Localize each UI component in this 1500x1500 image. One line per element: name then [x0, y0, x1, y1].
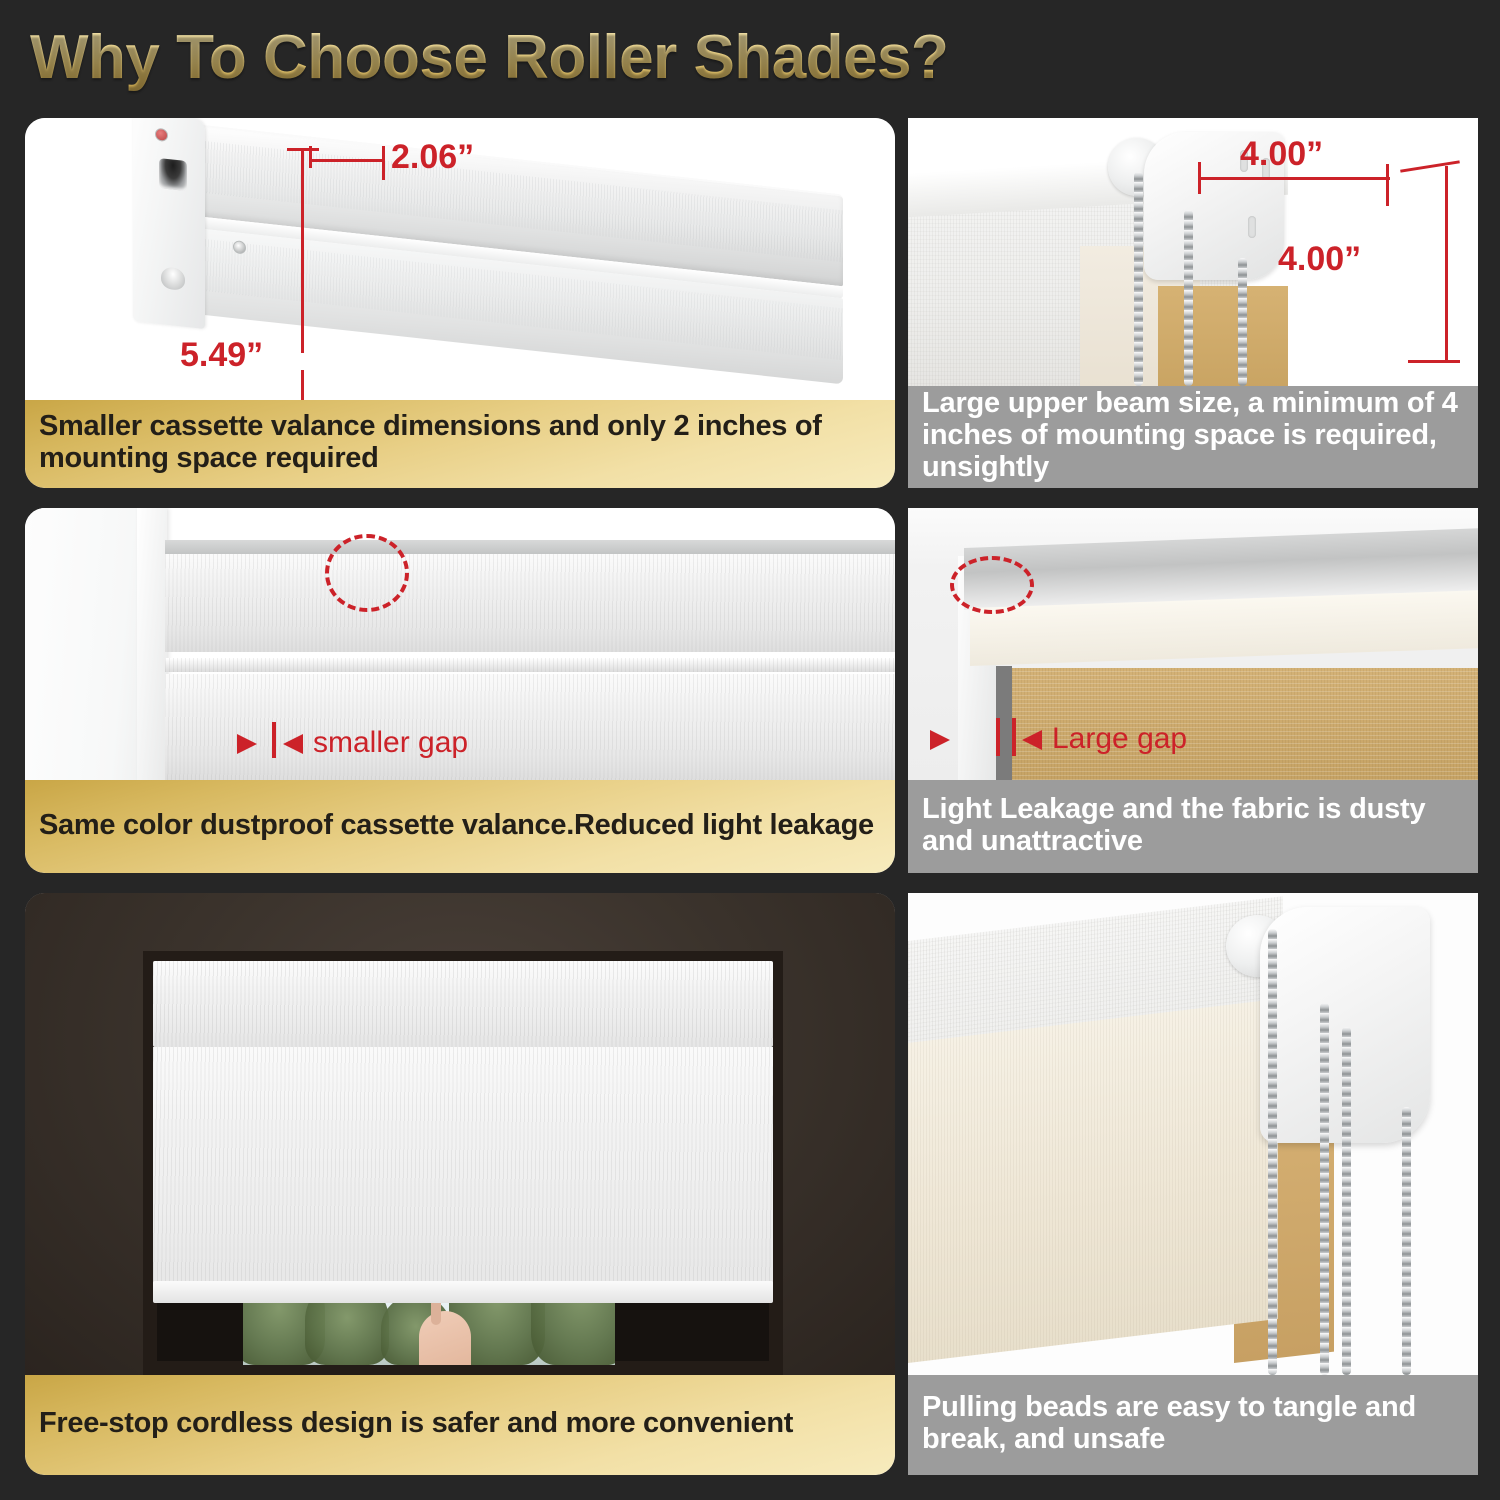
panel-caption: Pulling beads are easy to tangle and bre…	[908, 1375, 1478, 1475]
panel-smaller-cassette: 2.06” 5.49” Smaller cassette valance dim…	[25, 118, 895, 488]
bead-chain	[1134, 172, 1143, 386]
comparison-grid: 2.06” 5.49” Smaller cassette valance dim…	[0, 0, 1500, 1500]
bead-chain	[1268, 929, 1277, 1375]
gap-arrow-right-icon	[930, 730, 950, 750]
highlight-circle	[325, 534, 409, 612]
panel-large-beam: 4.00” 4.00” Large upper beam size, a min…	[908, 118, 1478, 488]
photo-smaller-gap: smaller gap	[25, 508, 895, 780]
gap-marker	[272, 722, 276, 758]
panel-cordless-design: Free-stop cordless design is safer and m…	[25, 893, 895, 1475]
dimension-label-height: 5.49”	[180, 336, 263, 375]
photo-window-scene	[25, 893, 895, 1375]
highlight-circle	[950, 556, 1034, 614]
gap-label: Large gap	[1052, 722, 1187, 756]
dim-v-tick-bottom	[1408, 360, 1460, 363]
photo-pulling-beads	[908, 893, 1478, 1375]
window-view	[243, 1303, 615, 1365]
panel-caption: Free-stop cordless design is safer and m…	[25, 1375, 895, 1475]
dim-h-tick-left	[1198, 162, 1201, 194]
gap-arrow-left-icon	[1022, 730, 1042, 750]
window-frame-inner-edge	[137, 508, 167, 780]
gap-arrow-left-icon	[283, 734, 303, 754]
shade-fabric	[153, 1047, 773, 1297]
cream-fabric	[908, 999, 1278, 1363]
dim-width-line	[309, 159, 385, 162]
cassette-valance	[153, 961, 773, 1047]
window-frame	[143, 951, 783, 1375]
bead-chain	[1320, 1003, 1329, 1375]
gap-arrow-right-icon	[237, 734, 257, 754]
photo-large-beam: 4.00” 4.00”	[908, 118, 1478, 386]
shade-slat	[165, 554, 895, 652]
bottom-rail	[153, 1281, 773, 1303]
panel-caption: Light Leakage and the fabric is dusty an…	[908, 780, 1478, 873]
dim-height-tick-top	[287, 148, 319, 151]
dim-h-bar	[1198, 177, 1390, 180]
bead-chain	[1238, 258, 1247, 386]
dim-height-line-lower	[301, 370, 304, 400]
valance-end-cap	[133, 118, 205, 329]
photo-cassette-valance: 2.06” 5.49”	[25, 118, 895, 400]
panel-large-gap: Large gap Light Leakage and the fabric i…	[908, 508, 1478, 873]
dim-height-line	[301, 148, 304, 353]
bracket-slot	[1248, 216, 1256, 238]
hand-pulling-rail	[419, 1311, 471, 1365]
panel-pulling-beads: Pulling beads are easy to tangle and bre…	[908, 893, 1478, 1475]
panel-caption: Smaller cassette valance dimensions and …	[25, 400, 895, 488]
gap-marker	[996, 718, 1000, 756]
panel-smaller-gap: smaller gap Same color dustproof cassett…	[25, 508, 895, 873]
dim-h-tick-right	[1386, 164, 1389, 206]
dimension-label-width: 4.00”	[1240, 135, 1323, 174]
tan-fabric	[1158, 286, 1288, 386]
dimension-label-height: 4.00”	[1278, 240, 1361, 279]
panel-caption: Large upper beam size, a minimum of 4 in…	[908, 386, 1478, 488]
panel-caption: Same color dustproof cassette valance.Re…	[25, 780, 895, 873]
dimension-label-width: 2.06”	[391, 138, 474, 177]
screw-icon	[233, 240, 246, 254]
screw-icon	[155, 128, 168, 142]
tree	[531, 1303, 615, 1365]
tree	[305, 1303, 389, 1365]
gap-marker	[1012, 718, 1016, 756]
dim-width-tick-right	[382, 146, 385, 180]
photo-large-gap: Large gap	[908, 508, 1478, 780]
gap-label: smaller gap	[313, 726, 468, 760]
shade-slat	[165, 658, 895, 672]
dim-v-tick-top	[1400, 160, 1460, 172]
bead-chain	[1402, 1107, 1411, 1375]
dim-v-bar	[1445, 166, 1448, 362]
bead-chain	[1342, 1027, 1351, 1375]
bead-chain	[1184, 210, 1193, 386]
